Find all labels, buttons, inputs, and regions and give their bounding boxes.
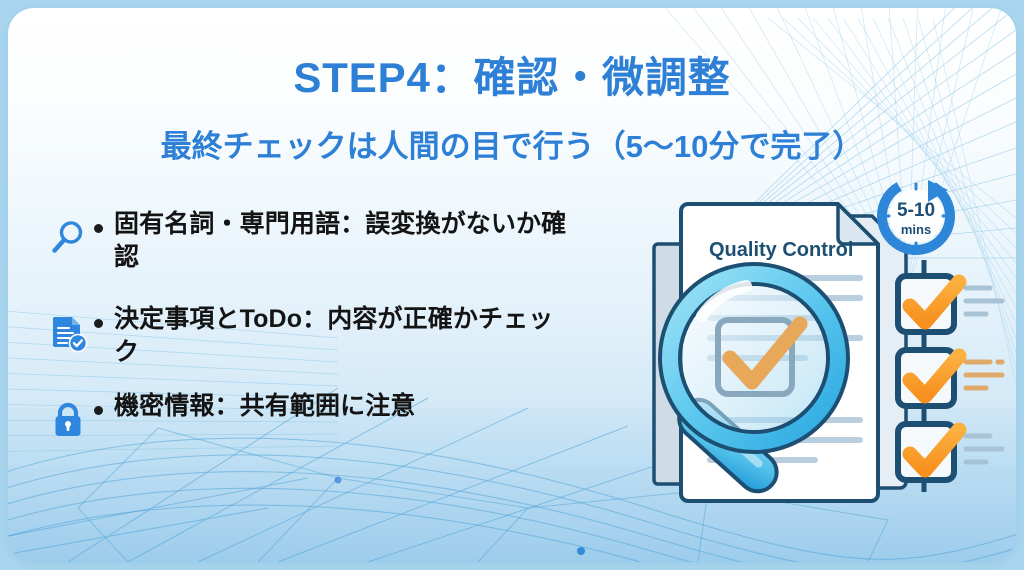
list-item: 決定事項とToDo：内容が正確かチェック	[42, 303, 602, 368]
list-item-label: 決定事項とToDo：内容が正確かチェック	[114, 303, 569, 368]
list-item-label: 機密情報：共有範囲に注意	[114, 390, 416, 423]
checklist-item	[898, 276, 1002, 332]
quality-control-illustration: Quality Control	[606, 168, 1016, 528]
timer-value-text: 5-10	[897, 200, 935, 221]
bullet-dot	[94, 224, 103, 233]
checklist	[898, 276, 1002, 480]
page-subtitle: 最終チェックは人間の目で行う（5〜10分で完了）	[8, 121, 1016, 166]
list-item: 機密情報：共有範囲に注意	[42, 390, 602, 446]
list-item: 固有名詞・専門用語：誤変換がないか確認	[42, 208, 602, 273]
timer-unit-text: mins	[901, 222, 931, 237]
bullet-list: 固有名詞・専門用語：誤変換がないか確認	[42, 208, 602, 472]
document-title-text: Quality Control	[709, 239, 853, 261]
bullet-dot	[94, 319, 103, 328]
checklist-item	[898, 350, 1002, 406]
slide-card: STEP4：確認・微調整 最終チェックは人間の目で行う（5〜10分で完了） 固有…	[8, 8, 1016, 562]
checklist-item	[898, 424, 1002, 480]
illustration-svg: Quality Control	[606, 168, 1016, 528]
list-item-label: 固有名詞・専門用語：誤変換がないか確認	[114, 208, 569, 273]
lock-icon	[42, 394, 94, 446]
page-title: STEP4：確認・微調整	[8, 44, 1016, 105]
slide-root: STEP4：確認・微調整 最終チェックは人間の目で行う（5〜10分で完了） 固有…	[0, 0, 1024, 570]
bullet-dot	[94, 406, 103, 415]
magnifier-icon	[42, 212, 94, 264]
document-check-icon	[42, 307, 94, 359]
